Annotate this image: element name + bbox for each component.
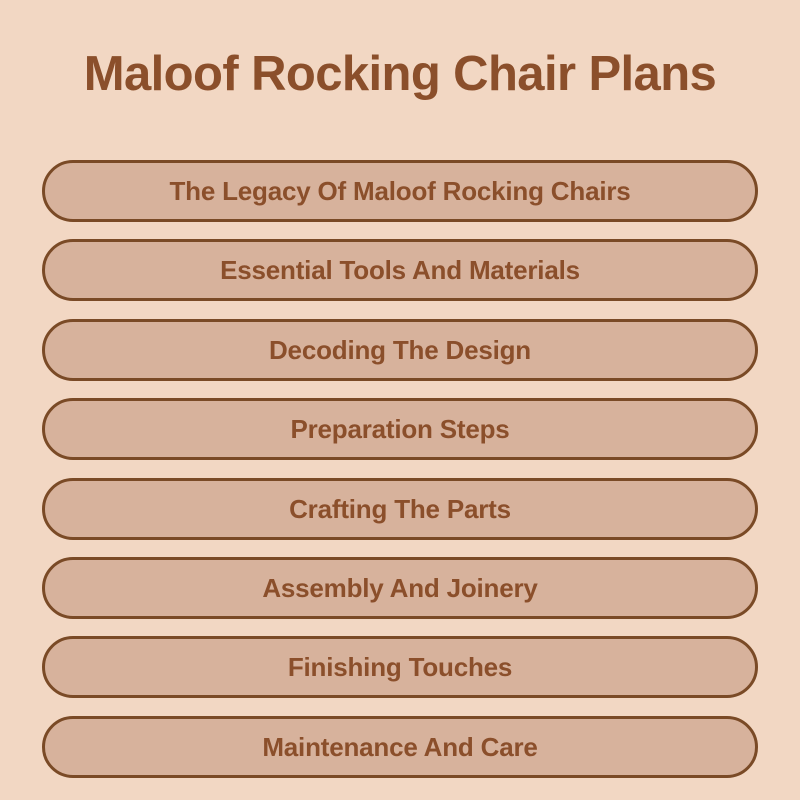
toc-item-label: Crafting The Parts bbox=[289, 496, 511, 522]
toc-item-label: Preparation Steps bbox=[290, 416, 509, 442]
toc-item-label: Maintenance And Care bbox=[262, 734, 537, 760]
toc-item-assembly-and-joinery[interactable]: Assembly And Joinery bbox=[42, 557, 758, 619]
toc-item-decoding-the-design[interactable]: Decoding The Design bbox=[42, 319, 758, 381]
toc-item-the-legacy-of-maloof-rocking-chairs[interactable]: The Legacy Of Maloof Rocking Chairs bbox=[42, 160, 758, 222]
infographic-container: Maloof Rocking Chair Plans The Legacy Of… bbox=[0, 0, 800, 800]
toc-item-maintenance-and-care[interactable]: Maintenance And Care bbox=[42, 716, 758, 778]
table-of-contents-list: The Legacy Of Maloof Rocking Chairs Esse… bbox=[42, 160, 758, 778]
toc-item-label: Decoding The Design bbox=[269, 337, 531, 363]
toc-item-label: Essential Tools And Materials bbox=[220, 257, 580, 283]
toc-item-label: The Legacy Of Maloof Rocking Chairs bbox=[169, 178, 630, 204]
page-title: Maloof Rocking Chair Plans bbox=[40, 50, 760, 99]
toc-item-essential-tools-and-materials[interactable]: Essential Tools And Materials bbox=[42, 239, 758, 301]
toc-item-label: Assembly And Joinery bbox=[262, 575, 537, 601]
toc-item-preparation-steps[interactable]: Preparation Steps bbox=[42, 398, 758, 460]
toc-item-finishing-touches[interactable]: Finishing Touches bbox=[42, 636, 758, 698]
toc-item-crafting-the-parts[interactable]: Crafting The Parts bbox=[42, 478, 758, 540]
toc-item-label: Finishing Touches bbox=[288, 654, 512, 680]
